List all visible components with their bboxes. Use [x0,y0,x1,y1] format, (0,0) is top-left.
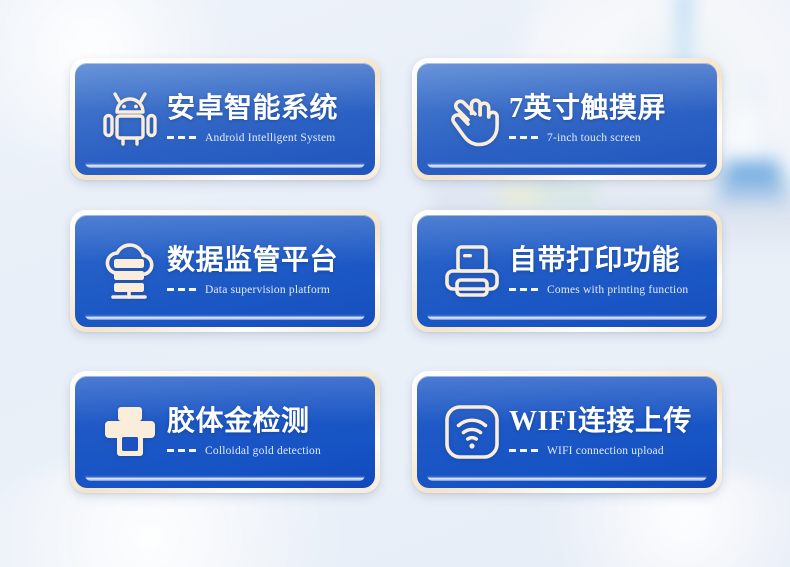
feature-card-text: WIFI连接上传 WIFI connection upload [509,407,717,456]
feature-card-panel: 7英寸触摸屏 7-inch touch screen [417,63,717,175]
feature-card-text: 安卓智能系统 Android Intelligent System [167,94,375,143]
feature-title: 胶体金检测 [167,407,365,437]
feature-card-grid: 安卓智能系统 Android Intelligent System [0,0,790,567]
feature-card-wifi-upload[interactable]: WIFI连接上传 WIFI connection upload [412,371,722,493]
dash-marker-icon [509,288,538,291]
feature-title: WIFI连接上传 [509,407,707,437]
feature-card-panel: 胶体金检测 Colloidal gold detection [75,376,375,488]
feature-subtitle: Comes with printing function [547,284,688,296]
feature-card-text: 数据监管平台 Data supervision platform [167,246,375,295]
dash-marker-icon [509,136,538,139]
cloud-server-icon [93,243,167,299]
feature-card-text: 自带打印功能 Comes with printing function [509,246,717,295]
feature-card-android-system[interactable]: 安卓智能系统 Android Intelligent System [70,58,380,180]
android-icon [93,91,167,147]
feature-subtitle: 7-inch touch screen [547,132,641,144]
feature-subtitle: Colloidal gold detection [205,445,321,457]
feature-card-printing[interactable]: 自带打印功能 Comes with printing function [412,210,722,332]
feature-subtitle-row: WIFI connection upload [509,445,707,457]
feature-card-panel: WIFI连接上传 WIFI connection upload [417,376,717,488]
feature-title: 数据监管平台 [167,246,365,276]
dash-marker-icon [167,288,196,291]
feature-title: 安卓智能系统 [167,94,365,124]
feature-subtitle: Data supervision platform [205,284,330,296]
feature-card-touch-screen[interactable]: 7英寸触摸屏 7-inch touch screen [412,58,722,180]
colloidal-gold-printer-icon [93,406,167,458]
feature-card-panel: 安卓智能系统 Android Intelligent System [75,63,375,175]
feature-card-text: 胶体金检测 Colloidal gold detection [167,407,375,456]
feature-subtitle: WIFI connection upload [547,445,664,457]
feature-subtitle-row: Comes with printing function [509,284,707,296]
feature-title: 自带打印功能 [509,246,707,276]
dash-marker-icon [167,449,196,452]
feature-subtitle-row: Android Intelligent System [167,132,365,144]
feature-grid-banner: 安卓智能系统 Android Intelligent System [0,0,790,567]
dash-marker-icon [509,449,538,452]
dash-marker-icon [167,136,196,139]
feature-subtitle-row: Data supervision platform [167,284,365,296]
touch-hand-icon [435,90,509,148]
feature-subtitle-row: 7-inch touch screen [509,132,707,144]
feature-card-panel: 自带打印功能 Comes with printing function [417,215,717,327]
feature-subtitle-row: Colloidal gold detection [167,445,365,457]
wifi-icon [435,405,509,459]
feature-card-text: 7英寸触摸屏 7-inch touch screen [509,94,717,143]
feature-title: 7英寸触摸屏 [509,94,707,124]
printer-icon [435,244,509,298]
feature-subtitle: Android Intelligent System [205,132,335,144]
feature-card-data-platform[interactable]: 数据监管平台 Data supervision platform [70,210,380,332]
feature-card-panel: 数据监管平台 Data supervision platform [75,215,375,327]
feature-card-colloidal-gold[interactable]: 胶体金检测 Colloidal gold detection [70,371,380,493]
